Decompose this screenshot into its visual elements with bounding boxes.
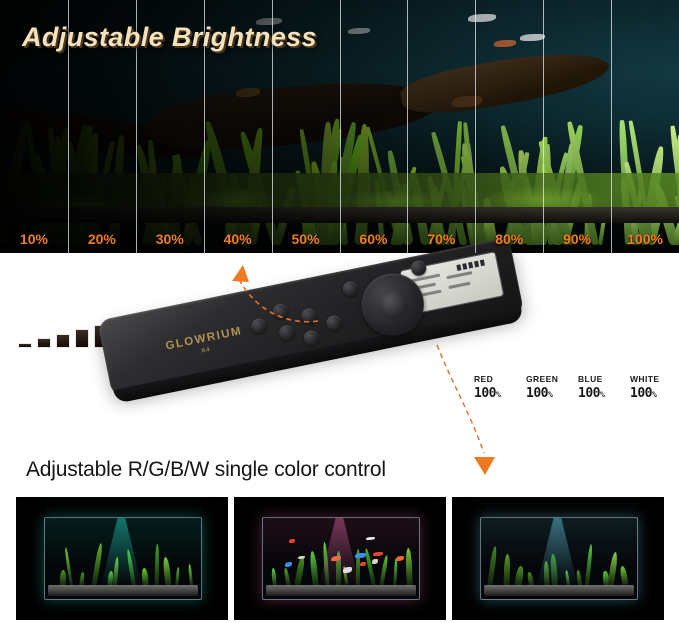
aquarium-plant [188, 564, 193, 586]
aquarium-plant [310, 550, 320, 586]
remote-body: GLOWRIUM A4 [97, 237, 524, 397]
arrow-head-down [474, 457, 495, 475]
aquarium-plant [619, 566, 629, 586]
aquarium-plant [162, 557, 171, 587]
brightness-step-bar [56, 334, 70, 348]
tropical-fish [396, 556, 405, 561]
aquarium-plant [584, 544, 592, 586]
aquarium-plant [91, 543, 103, 586]
aquarium-tank [262, 517, 421, 600]
panel-divider [475, 0, 476, 253]
brightness-level-label: 50% [272, 231, 340, 247]
tropical-fish [289, 539, 295, 543]
brightness-level-label: 10% [0, 231, 68, 247]
aquarium-pink [234, 497, 446, 620]
tropical-fish [366, 537, 375, 540]
aquarium-plant [527, 571, 534, 586]
remote-button-power-icon[interactable] [250, 317, 268, 335]
tropical-fish [372, 559, 377, 564]
remote-button-timer-icon[interactable] [278, 324, 296, 342]
brightness-level-label: 80% [475, 231, 543, 247]
aquarium-plant [79, 571, 85, 586]
aquarium-gravel [484, 585, 635, 596]
remote-button-clock-icon[interactable] [303, 329, 321, 347]
rgbw-channel-red: RED100% [474, 374, 501, 401]
brightness-step-bar [37, 338, 51, 348]
rgbw-channel-value: 100% [526, 386, 558, 401]
aquarium-plant [59, 570, 66, 586]
remote-button-sun-icon[interactable] [300, 307, 318, 325]
rgbw-channel-blue: BLUE100% [578, 374, 605, 401]
aquarium-plant [405, 548, 412, 586]
panel-divider [611, 0, 612, 253]
brightness-step-bar [18, 343, 32, 348]
brightness-level-label: 60% [340, 231, 408, 247]
aquarium-tank [480, 517, 639, 600]
brightness-level-label: 30% [136, 231, 204, 247]
aquarium-plant [514, 566, 524, 587]
rgbw-channel-label: GREEN [526, 374, 558, 384]
aquarium-plant [294, 556, 306, 586]
aquarium-photo-gallery [16, 497, 664, 620]
aquarium-plant [394, 558, 399, 586]
remote-button-moon-icon[interactable] [272, 303, 290, 321]
aquarium-gravel [266, 585, 417, 596]
aquarium-plant [503, 554, 510, 586]
rgbw-channel-white: WHITE100% [630, 374, 659, 401]
tropical-fish [360, 562, 366, 566]
panel-divider [407, 0, 408, 253]
tropical-fish [373, 552, 383, 556]
aquarium-plant [380, 554, 390, 586]
rgbw-percent-unit: % [496, 390, 501, 399]
aquarium-plant [488, 546, 499, 587]
aquarium-plant [283, 568, 290, 586]
hero-title: Adjustable Brightness [22, 22, 317, 53]
tropical-fish [285, 562, 292, 567]
aquarium-plant [607, 552, 618, 586]
brightness-level-label: 40% [204, 231, 272, 247]
panel-divider [340, 0, 341, 253]
remote-model-label: A4 [201, 347, 211, 355]
brightness-step-bar [75, 329, 89, 348]
aquarium-blue [452, 497, 664, 620]
rgbw-channel-value: 100% [630, 386, 659, 401]
rgbw-channel-green: GREEN100% [526, 374, 558, 401]
aquarium-plant [271, 567, 277, 586]
aquarium-gravel [48, 585, 199, 596]
aquarium-plant [155, 544, 159, 586]
brightness-level-label: 20% [68, 231, 136, 247]
remote-control: GLOWRIUM A4 [105, 278, 555, 438]
brightness-level-label: 100% [611, 231, 679, 247]
tropical-fish [355, 553, 366, 558]
aquarium-cyan [16, 497, 228, 620]
rgbw-channel-value: 100% [474, 386, 501, 401]
brightness-level-label: 70% [407, 231, 475, 247]
rgbw-readout: RED100%GREEN100%BLUE100%WHITE100% [474, 374, 664, 408]
brightness-level-label: 90% [543, 231, 611, 247]
rgbw-percent-unit: % [652, 390, 657, 399]
aquarium-tank [44, 517, 203, 600]
rgbw-percent-unit: % [600, 390, 605, 399]
brightness-hero-banner: Adjustable Brightness 10%20%30%40%50%60%… [0, 0, 679, 253]
subheading: Adjustable R/G/B/W single color control [26, 458, 386, 482]
remote-button-cycle-icon[interactable] [325, 314, 343, 332]
aquarium-plant [141, 568, 149, 587]
panel-divider [543, 0, 544, 253]
remote-bottom-edge [113, 307, 523, 404]
rgbw-percent-unit: % [548, 390, 553, 399]
rgbw-channel-label: WHITE [630, 374, 659, 384]
rgbw-channel-label: RED [474, 374, 501, 384]
rgbw-channel-value: 100% [578, 386, 605, 401]
remote-button-mode-icon[interactable] [342, 280, 360, 298]
rgbw-channel-label: BLUE [578, 374, 605, 384]
aquarium-plant [175, 567, 180, 586]
